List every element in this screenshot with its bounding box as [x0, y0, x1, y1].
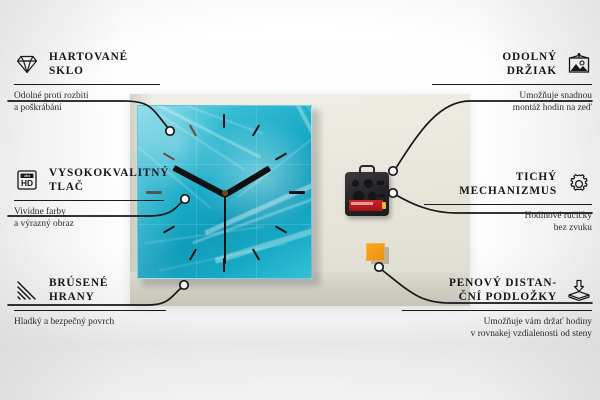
callout-subtitle-line2: a výrazný obraz — [14, 218, 164, 230]
callout-title: TICHÝ MECHANIZMUS — [459, 170, 557, 198]
callout-title: VYSOKOKVALITNÝ TLAČ — [49, 166, 169, 194]
gear-icon — [566, 172, 592, 196]
callout-divider — [424, 204, 592, 205]
product-infographic: HARTOVANÉ SKLO Odolné proti rozbití a po… — [0, 0, 600, 400]
svg-text:HD: HD — [21, 178, 33, 188]
callout-silent-mechanism[interactable]: TICHÝ MECHANIZMUS Hodinové ručičky bez z… — [424, 170, 592, 235]
callout-divider — [14, 84, 160, 85]
callout-subtitle-line2: bez zvuku — [424, 222, 592, 234]
callout-subtitle-line2: a poškrábání — [14, 102, 160, 114]
callout-subtitle-line1: Vivídne farby — [14, 206, 164, 218]
callout-title: PENOVÝ DISTAN- ČNÍ PODLOŽKY — [449, 276, 557, 304]
callout-divider — [14, 200, 164, 201]
callout-title: HARTOVANÉ SKLO — [49, 50, 128, 78]
callout-subtitle-line1: Umožňuje snadnou — [432, 90, 592, 102]
beveled-edge-icon — [14, 278, 40, 302]
callout-subtitle-line2: montáž hodin na zeď — [432, 102, 592, 114]
ultra-hd-badge-icon: ultra HD — [14, 168, 40, 192]
callout-subtitle-line2: v rovnakej vzdialenosti od steny — [402, 328, 592, 340]
foam-spacer-arrow-icon — [566, 278, 592, 302]
callout-title: BRÚSENÉ HRANY — [49, 276, 108, 304]
callout-divider — [432, 84, 592, 85]
callout-tempered-glass[interactable]: HARTOVANÉ SKLO Odolné proti rozbití a po… — [14, 50, 160, 115]
callout-subtitle-line1: Umožňuje vám držať hodiny — [402, 316, 592, 328]
callout-high-quality-print[interactable]: ultra HD VYSOKOKVALITNÝ TLAČ Vivídne far… — [14, 166, 164, 231]
diamond-icon — [14, 52, 40, 76]
callout-beveled-edges[interactable]: BRÚSENÉ HRANY Hladký a bezpečný povrch — [14, 276, 166, 328]
callout-subtitle-line1: Odolné proti rozbití — [14, 90, 160, 102]
callout-foam-spacers[interactable]: PENOVÝ DISTAN- ČNÍ PODLOŽKY Umožňuje vám… — [402, 276, 592, 341]
callout-divider — [14, 310, 166, 311]
callout-title: ODOLNÝ DRŽIAK — [502, 50, 557, 78]
callout-durable-holder[interactable]: ODOLNÝ DRŽIAK Umožňuje snadnou montáž ho… — [432, 50, 592, 115]
callout-subtitle-line1: Hodinové ručičky — [424, 210, 592, 222]
callout-divider — [402, 310, 592, 311]
callout-subtitle-line1: Hladký a bezpečný povrch — [14, 316, 166, 328]
wall-mount-frame-icon — [566, 52, 592, 76]
